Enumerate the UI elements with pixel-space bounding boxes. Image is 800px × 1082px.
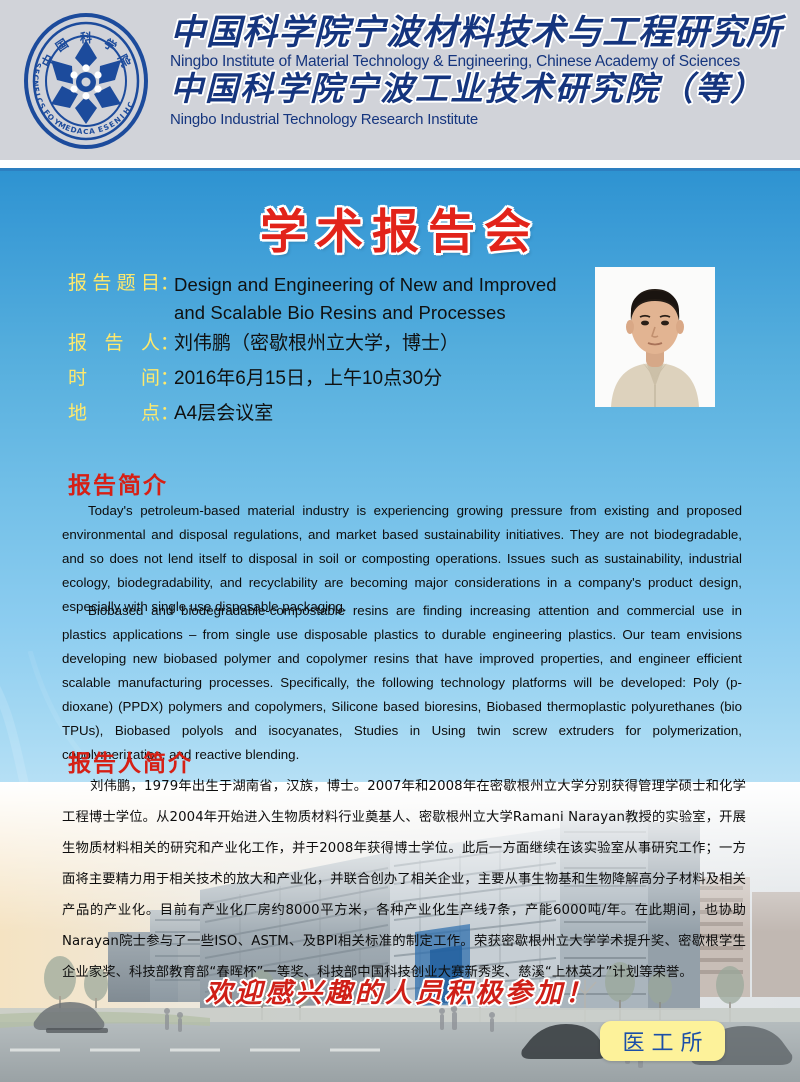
svg-text:C: C xyxy=(83,127,89,136)
svg-text:科: 科 xyxy=(80,30,92,45)
header-band: 科 国 中 学 院 C H I N E S E xyxy=(0,0,800,160)
cas-logo: 科 国 中 学 院 C H I N E S E xyxy=(0,0,170,160)
welcome-message: 欢迎感兴趣的人员积极参加！ xyxy=(0,971,800,1010)
info-label-speaker: 报告人 xyxy=(68,331,160,357)
header-white-gap xyxy=(0,160,800,168)
info-colon-time: ： xyxy=(160,366,174,392)
info-row-venue: 地点 ： A4层会议室 xyxy=(68,401,578,427)
cas-seal-icon: 科 国 中 学 院 C H I N E S E xyxy=(22,12,150,150)
svg-text:A: A xyxy=(89,126,96,136)
abstract-paragraph-2: Biobased and biodegradable-compostable r… xyxy=(62,599,742,767)
institute-name-en: Ningbo Institute of Material Technology … xyxy=(170,53,792,71)
header-institute-text: 中国科学院宁波材料技术与工程研究所 Ningbo Institute of Ma… xyxy=(170,0,800,128)
info-value-topic: Design and Engineering of New and Improv… xyxy=(174,271,578,327)
svg-text:N: N xyxy=(31,80,40,87)
institute-name2-en: Ningbo Industrial Technology Research In… xyxy=(170,111,792,128)
abstract-p2-text: Biobased and biodegradable-compostable r… xyxy=(62,603,742,762)
info-value-venue: A4层会议室 xyxy=(174,401,578,427)
svg-text:C: C xyxy=(31,74,40,80)
info-row-speaker: 报告人 ： 刘伟鹏（密歇根州立大学，博士） xyxy=(68,331,578,357)
info-colon-topic: ： xyxy=(160,271,174,297)
info-value-speaker: 刘伟鹏（密歇根州立大学，博士） xyxy=(174,331,578,357)
speaker-portrait xyxy=(595,267,715,407)
info-row-time: 时间 ： 2016年6月15日，上午10点30分 xyxy=(68,366,578,392)
info-label-topic: 报告题目 xyxy=(68,271,160,297)
info-colon-speaker: ： xyxy=(160,331,174,357)
abstract-p1-text: Today's petroleum-based material industr… xyxy=(62,503,742,614)
abstract-heading: 报告简介 xyxy=(68,466,168,500)
info-value-time: 2016年6月15日，上午10点30分 xyxy=(174,366,578,392)
poster-body: 学术报告会 报告题目 ： Design and Engineering of N… xyxy=(0,171,800,1082)
topic-line2: and Scalable Bio Resins and Processes xyxy=(174,299,578,327)
topic-line1: Design and Engineering of New and Improv… xyxy=(174,274,557,295)
portrait-photo-icon xyxy=(595,267,715,407)
info-label-venue: 地点 xyxy=(68,401,160,427)
info-colon-venue: ： xyxy=(160,401,174,427)
info-label-time: 时间 xyxy=(68,366,160,392)
biography-text: 刘伟鹏，1979年出生于湖南省，汉族，博士。2007年和2008年在密歇根州立大… xyxy=(62,779,746,980)
institute-name2-cn: 中国科学院宁波工业技术研究院（等） xyxy=(170,73,792,109)
institute-name-cn: 中国科学院宁波材料技术与工程研究所 xyxy=(170,14,792,52)
talk-info-block: 报告题目 ： Design and Engineering of New and… xyxy=(68,271,578,435)
info-row-topic: 报告题目 ： Design and Engineering of New and… xyxy=(68,271,578,327)
poster-root: 科 国 中 学 院 C H I N E S E xyxy=(0,0,800,1082)
biography-paragraph: 刘伟鹏，1979年出生于湖南省，汉族，博士。2007年和2008年在密歇根州立大… xyxy=(62,771,746,988)
page-title: 学术报告会 xyxy=(0,193,800,262)
status-badge: 医工所 xyxy=(600,1021,725,1061)
